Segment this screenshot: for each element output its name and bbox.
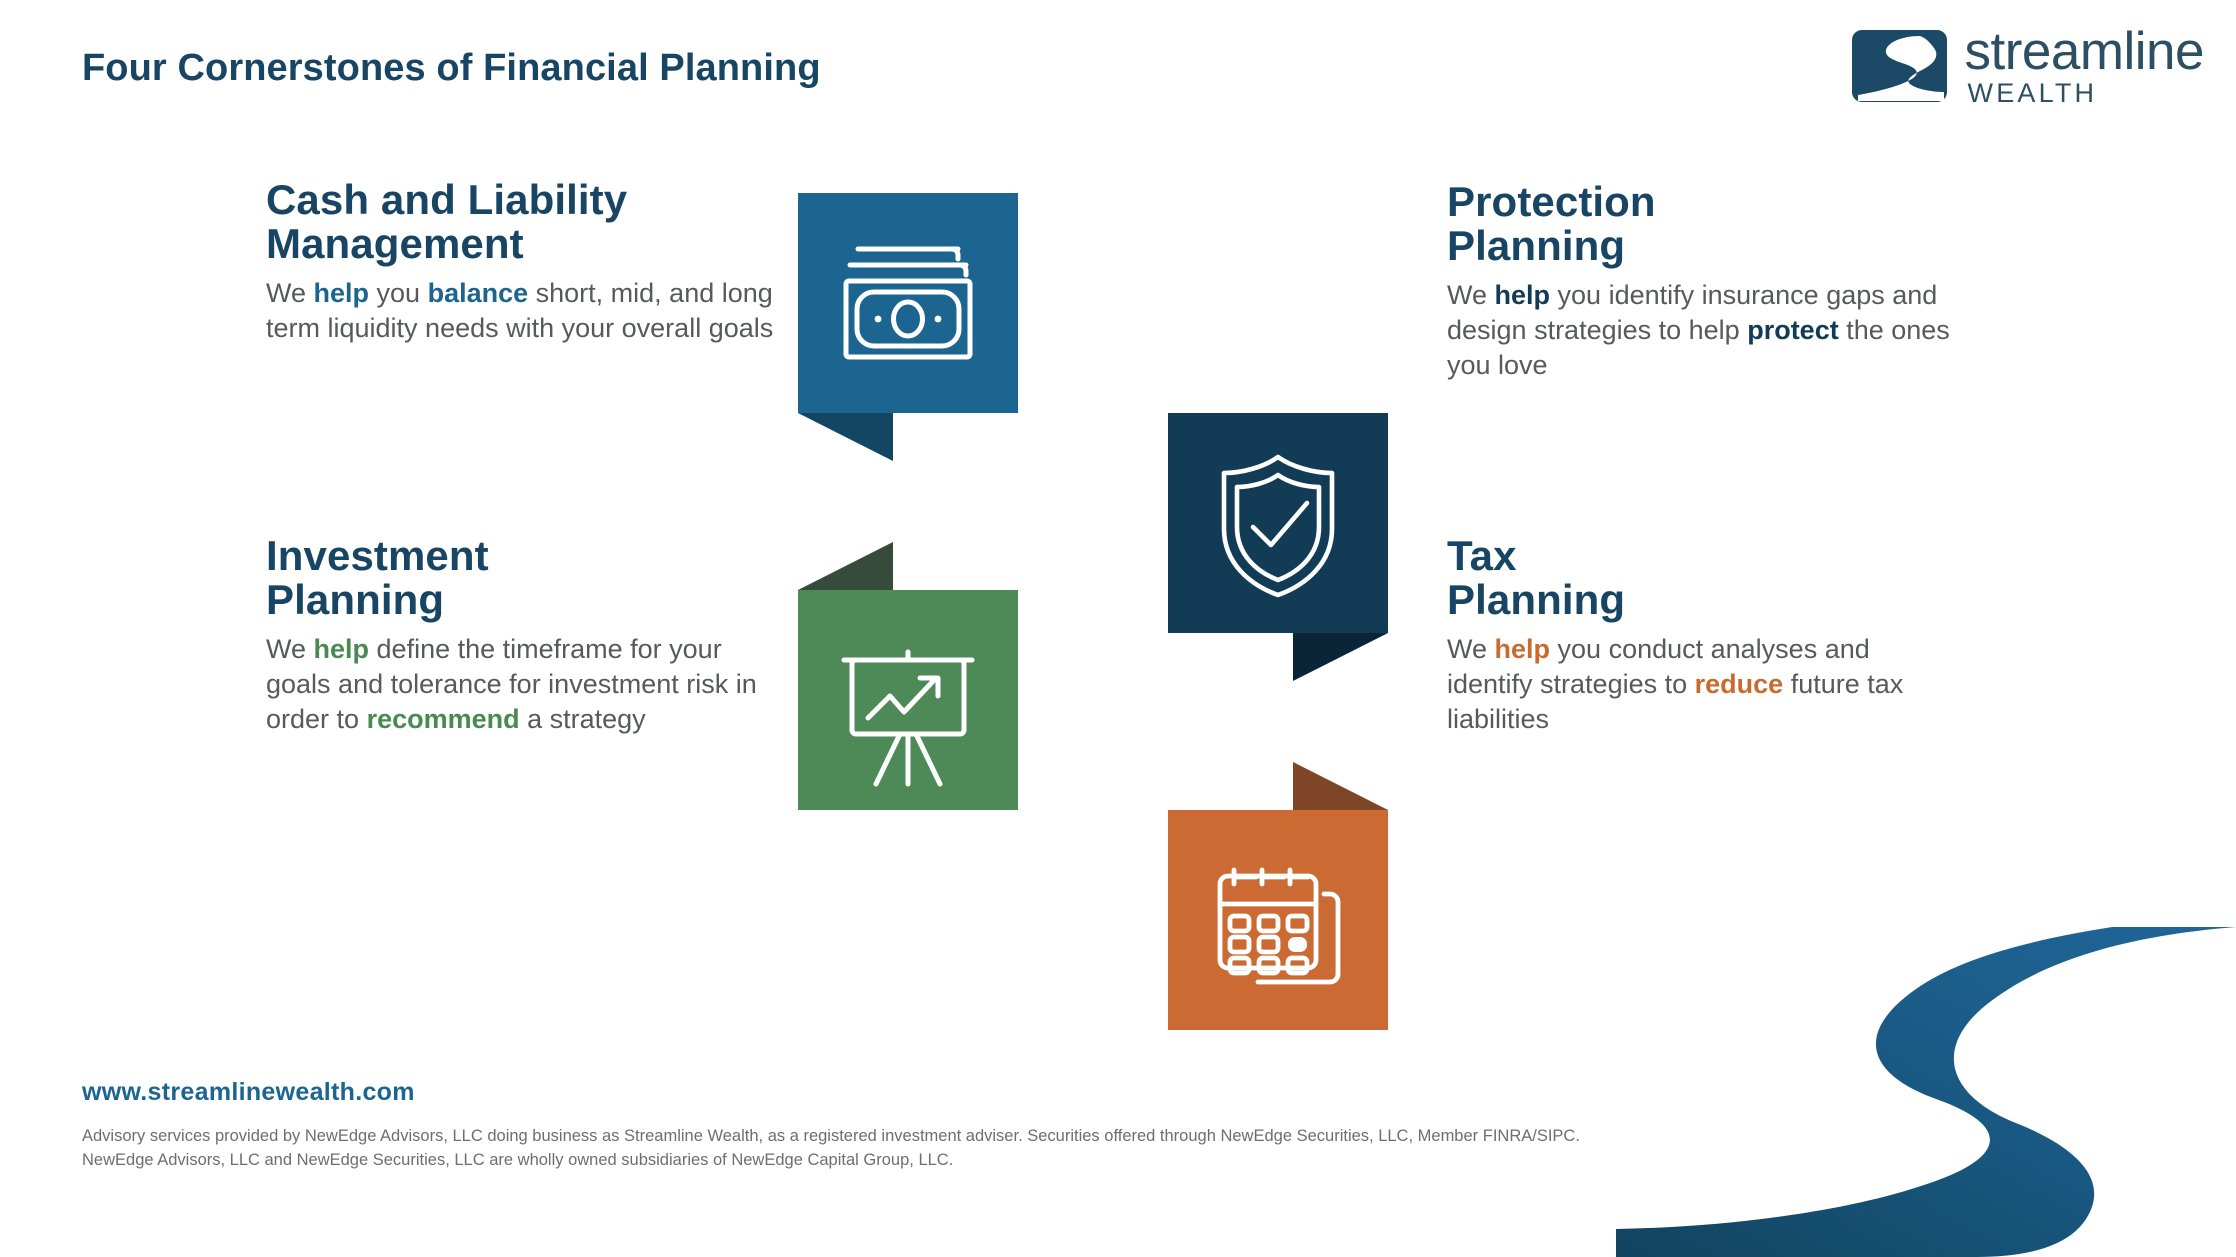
winding-road-logo-icon <box>1848 22 1951 110</box>
road-path <box>1616 927 2236 1257</box>
ribbon-fold-top-right <box>1168 762 1388 810</box>
ribbon-fold-bottom-right <box>1168 633 1388 681</box>
shield-check-icon <box>1168 413 1388 633</box>
page-title: Four Cornerstones of Financial Planning <box>82 47 821 90</box>
logo-subtitle: WEALTH <box>1965 80 2204 107</box>
body-tax-planning: We help you conduct analyses and identif… <box>1447 632 1957 737</box>
icon-card-protection-planning <box>1168 413 1388 633</box>
disclaimer-text: Advisory services provided by NewEdge Ad… <box>82 1125 1642 1173</box>
banknote-icon <box>798 193 1018 413</box>
ribbon-fold-top-left <box>798 542 1018 590</box>
heading-investment-planning: InvestmentPlanning <box>266 534 776 622</box>
presentation-chart-icon <box>798 590 1018 810</box>
body-protection-planning: We help you identify insurance gaps and … <box>1447 278 1957 383</box>
heading-cash-and-liability-management: Cash and LiabilityManagement <box>266 178 776 266</box>
card-background <box>1168 413 1388 633</box>
logo-wordmark: streamline <box>1965 25 2204 78</box>
heading-tax-planning: TaxPlanning <box>1447 534 1957 622</box>
cornerstones-row-bottom: InvestmentPlanning We help define the ti… <box>0 528 2236 868</box>
body-investment-planning: We help define the timeframe for your go… <box>266 632 776 737</box>
website-url-link[interactable]: www.streamlinewealth.com <box>82 1078 415 1107</box>
winding-road-decoration <box>1616 927 2236 1257</box>
heading-protection-planning: ProtectionPlanning <box>1447 180 1957 268</box>
body-cash-and-liability-management: We help you balance short, mid, and long… <box>266 276 776 346</box>
ribbon-fold-bottom-left <box>798 413 1018 461</box>
icon-card-tax-planning <box>1168 810 1388 1030</box>
block-investment-planning-text: InvestmentPlanning We help define the ti… <box>266 534 776 737</box>
block-protection-planning-text: ProtectionPlanning We help you identify … <box>1447 180 1957 383</box>
icon-card-cash-and-liability-management <box>798 193 1018 413</box>
calendar-icon <box>1168 810 1388 1030</box>
calendar-highlighted-day <box>1288 937 1307 952</box>
brand-logo: streamline WEALTH <box>1848 22 2204 110</box>
block-cash-and-liability-management-text: Cash and LiabilityManagement We help you… <box>266 178 776 346</box>
icon-card-investment-planning <box>798 590 1018 810</box>
cornerstones-grid: Cash and LiabilityManagement We help you… <box>0 178 2236 868</box>
cornerstones-row-top: Cash and LiabilityManagement We help you… <box>0 178 2236 518</box>
block-tax-planning-text: TaxPlanning We help you conduct analyses… <box>1447 534 1957 737</box>
